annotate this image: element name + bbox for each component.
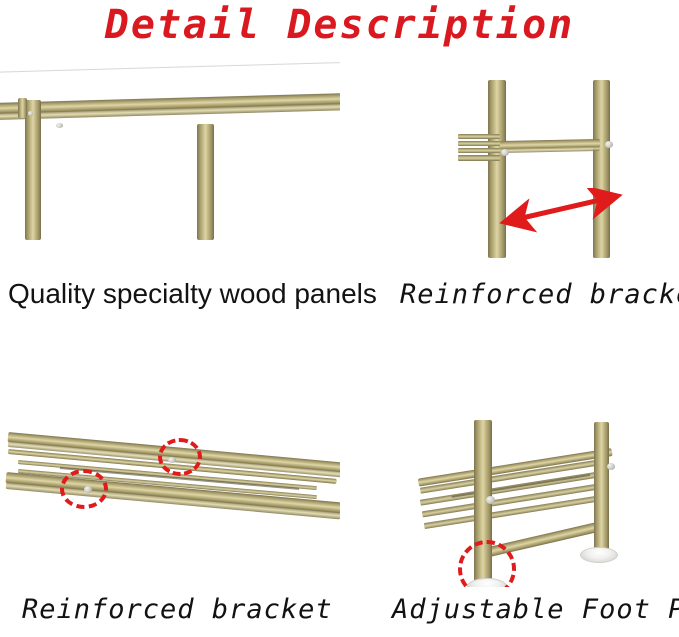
shelf-slat bbox=[458, 155, 500, 161]
photo-reinforced-bracket-posts bbox=[400, 58, 679, 263]
caption-reinforced-bracket-top: Reinforced bracket bbox=[400, 279, 679, 310]
photo-table-top-with-legs bbox=[0, 58, 340, 263]
shelf-slat bbox=[458, 141, 500, 146]
adjustable-foot-pad-back bbox=[580, 547, 618, 563]
shelf-slat bbox=[458, 148, 500, 153]
caption-reinforced-bracket-bottom: Reinforced bracket bbox=[22, 594, 333, 625]
panel-adjustable-foot-pad bbox=[390, 412, 679, 587]
panel-reinforced-bracket-top bbox=[400, 58, 679, 263]
red-double-arrow-annotation bbox=[495, 188, 625, 233]
photo-legs-with-foot-pads bbox=[390, 412, 679, 587]
screw-fitting-icon bbox=[501, 149, 509, 156]
photo-shelf-rails-grid bbox=[0, 412, 340, 582]
leg-back-right bbox=[594, 422, 609, 552]
screw-fitting-icon bbox=[56, 123, 63, 128]
panel-quality-wood-panels bbox=[0, 58, 340, 263]
screw-fitting-icon bbox=[607, 463, 615, 470]
post-right-lower-segment bbox=[593, 236, 610, 258]
frame-leg-left bbox=[25, 100, 41, 240]
page-title: Detail Description bbox=[0, 2, 679, 48]
screw-fitting-icon bbox=[28, 111, 33, 116]
screw-fitting-icon bbox=[605, 141, 613, 148]
shelf-slat bbox=[458, 134, 500, 139]
red-dashed-circle-annotation bbox=[158, 438, 202, 476]
red-dashed-circle-annotation bbox=[60, 469, 108, 509]
frame-leg-middle bbox=[197, 124, 214, 240]
caption-quality-wood-panels: Quality specialty wood panels bbox=[8, 278, 377, 310]
screw-fitting-icon bbox=[486, 496, 495, 504]
frame-corner-joint-left bbox=[18, 98, 27, 118]
reinforcing-bracket-bar-shadow bbox=[500, 146, 600, 153]
panel-reinforced-bracket-bottom bbox=[0, 412, 340, 582]
caption-adjustable-foot-pad: Adjustable Foot Pad bbox=[392, 594, 679, 625]
detail-description-page: Detail Description Quality specialty woo… bbox=[0, 0, 679, 637]
